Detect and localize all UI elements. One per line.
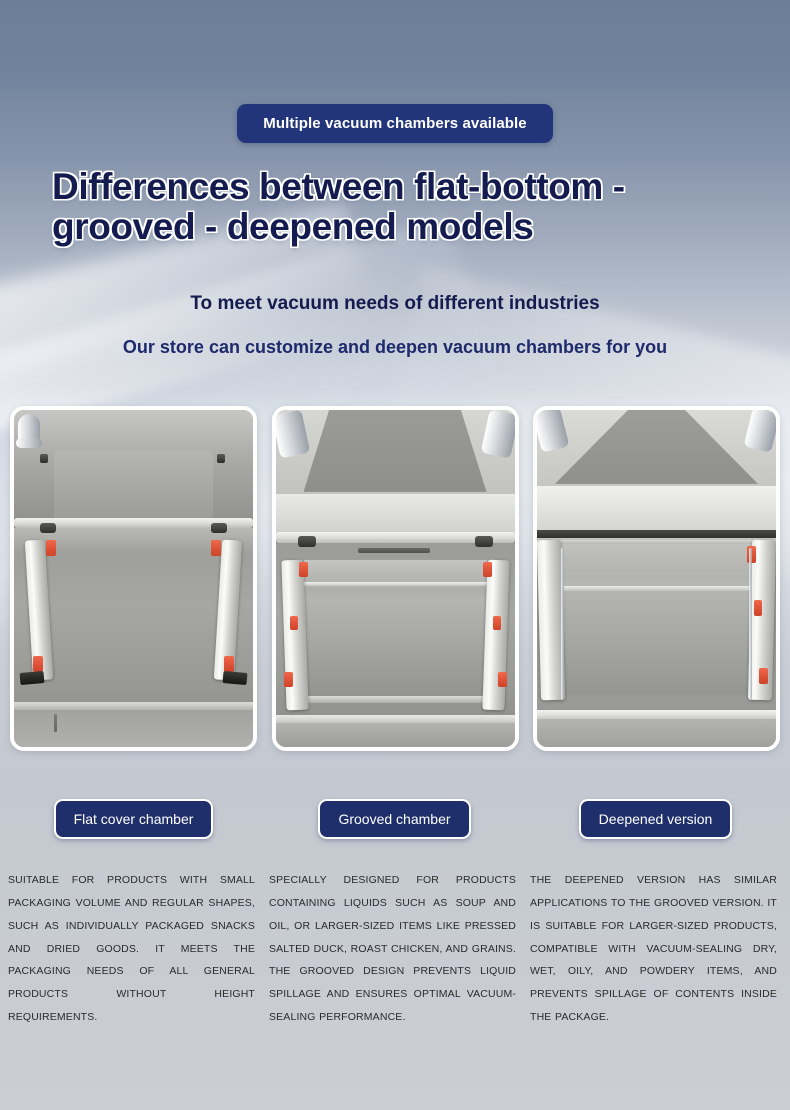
description-grooved: SPECIALLY DESIGNED FOR PRODUCTS CONTAINI… bbox=[269, 869, 516, 1029]
multiple-chambers-badge[interactable]: Multiple vacuum chambers available bbox=[237, 104, 553, 143]
badge-cell-grooved: Grooved chamber bbox=[271, 799, 518, 839]
grooved-chamber-photo bbox=[276, 410, 515, 747]
badge-cell-deepened: Deepened version bbox=[532, 799, 779, 839]
caption-badge-row: Flat cover chamber Grooved chamber Deepe… bbox=[0, 799, 790, 839]
deepened-version-photo bbox=[537, 410, 776, 747]
badge-grooved-chamber[interactable]: Grooved chamber bbox=[318, 799, 470, 839]
badge-cell-flat-cover: Flat cover chamber bbox=[10, 799, 257, 839]
flat-cover-chamber-photo bbox=[14, 410, 253, 747]
description-deepened: THE DEEPENED VERSION HAS SIMILAR APPLICA… bbox=[530, 869, 777, 1029]
top-badge-row: Multiple vacuum chambers available bbox=[0, 0, 790, 143]
description-flat-cover: SUITABLE FOR PRODUCTS WITH SMALL PACKAGI… bbox=[8, 869, 255, 1029]
product-card-grooved[interactable] bbox=[272, 406, 519, 751]
subtitle-primary: To meet vacuum needs of different indust… bbox=[0, 293, 790, 315]
badge-deepened-version[interactable]: Deepened version bbox=[579, 799, 733, 839]
product-image-row bbox=[0, 406, 790, 751]
product-card-deepened[interactable] bbox=[533, 406, 780, 751]
page-title: Differences between flat-bottom - groove… bbox=[0, 167, 790, 247]
description-row: SUITABLE FOR PRODUCTS WITH SMALL PACKAGI… bbox=[0, 869, 790, 1029]
promo-page: Multiple vacuum chambers available Diffe… bbox=[0, 0, 790, 1110]
product-card-flat-cover[interactable] bbox=[10, 406, 257, 751]
badge-flat-cover-chamber[interactable]: Flat cover chamber bbox=[54, 799, 214, 839]
subtitle-secondary: Our store can customize and deepen vacuu… bbox=[0, 337, 790, 358]
